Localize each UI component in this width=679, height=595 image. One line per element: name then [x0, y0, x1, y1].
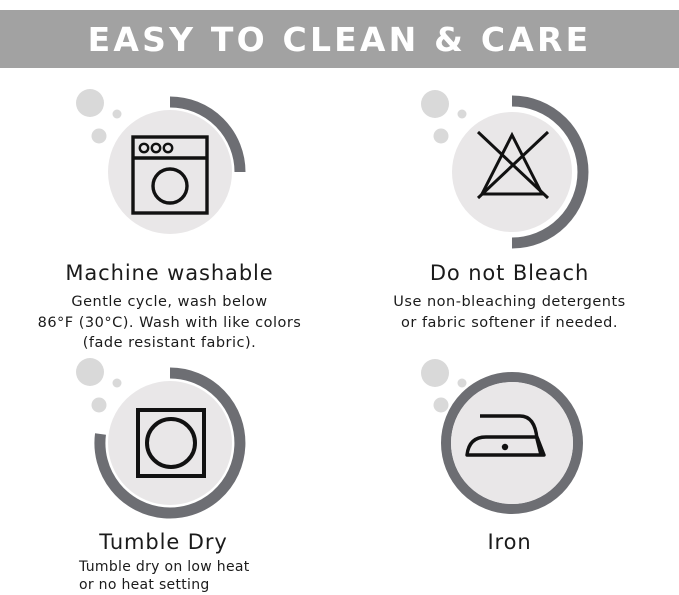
- card-title: Tumble Dry: [0, 530, 339, 555]
- care-instructions-infographic: EASY TO CLEAN & CARE: [0, 0, 679, 593]
- care-card-tumble-dry: Tumble Dry Tumble dry on low heat or no …: [0, 351, 339, 595]
- care-card-machine-washable: Machine washable Gentle cycle, wash belo…: [0, 82, 339, 354]
- washing-machine-icon: [70, 82, 270, 257]
- card-title: Do not Bleach: [340, 261, 679, 286]
- card-description: Tumble dry on low heat or no heat settin…: [0, 559, 339, 595]
- care-card-do-not-bleach: Do not Bleach Use non-bleaching detergen…: [340, 82, 679, 333]
- tumble-dry-icon: [70, 351, 270, 526]
- care-cards-grid: Machine washable Gentle cycle, wash belo…: [0, 68, 679, 593]
- icon-wrapper: [70, 351, 270, 526]
- icon-wrapper: [410, 82, 610, 257]
- card-title: Iron: [340, 530, 679, 555]
- icon-wrapper: [410, 351, 610, 526]
- card-text-block: Do not Bleach Use non-bleaching detergen…: [340, 257, 679, 333]
- card-title: Machine washable: [0, 261, 339, 286]
- card-text-block: Iron: [340, 526, 679, 555]
- card-text-block: Tumble Dry Tumble dry on low heat or no …: [0, 526, 339, 595]
- care-card-iron: Iron: [340, 351, 679, 561]
- iron-icon: [410, 351, 610, 526]
- page-title: EASY TO CLEAN & CARE: [88, 23, 592, 56]
- card-description: Use non-bleaching detergents or fabric s…: [340, 292, 679, 333]
- header-band: EASY TO CLEAN & CARE: [0, 10, 679, 68]
- card-description: Gentle cycle, wash below 86°F (30°C). Wa…: [0, 292, 339, 354]
- card-text-block: Machine washable Gentle cycle, wash belo…: [0, 257, 339, 354]
- do-not-bleach-icon: [410, 82, 610, 257]
- icon-wrapper: [70, 82, 270, 257]
